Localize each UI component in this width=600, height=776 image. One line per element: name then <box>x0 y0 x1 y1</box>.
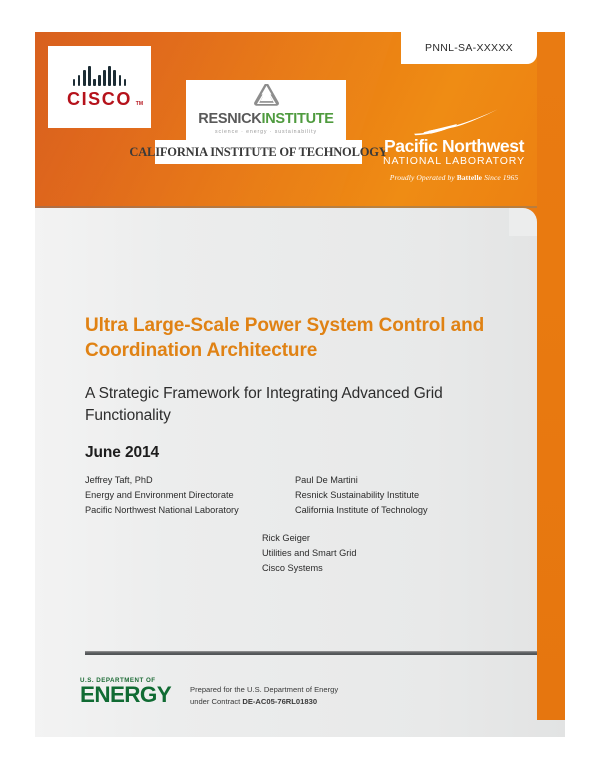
right-orange-strip <box>537 32 565 720</box>
pnnl-tagline: Proudly Operated by Battelle Since 1965 <box>374 173 534 182</box>
doe-energy-text: ENERGY <box>80 685 190 706</box>
caltech-logo: CALIFORNIA INSTITUTE OF TECHNOLOGY <box>155 140 362 164</box>
sheet-corner-notch <box>509 208 537 236</box>
document-title: Ultra Large-Scale Power System Control a… <box>85 313 505 363</box>
contract-line-2: under Contract DE-AC05-76RL01830 <box>190 696 338 708</box>
document-date: June 2014 <box>85 444 505 462</box>
report-number-box: PNNL-SA-XXXXX <box>401 32 537 64</box>
pnnl-tagline-battelle: Battelle <box>457 173 482 182</box>
resnick-triangle-icon <box>253 84 280 111</box>
document-cover-page: PNNL-SA-XXXXX CISCO TM RESNICKINSTITUTE … <box>0 0 600 776</box>
pnnl-logo: Pacific Northwest NATIONAL LABORATORY Pr… <box>374 108 534 182</box>
author-affiliation-1: Utilities and Smart Grid <box>262 546 356 561</box>
author-affiliation-2: California Institute of Technology <box>295 503 505 518</box>
author-block-right: Paul De Martini Resnick Sustainability I… <box>295 473 505 518</box>
authors-row: Jeffrey Taft, PhD Energy and Environment… <box>85 473 505 518</box>
cisco-bars-icon <box>73 66 127 86</box>
resnick-name-part2: INSTITUTE <box>261 111 333 127</box>
footer-divider <box>85 651 537 655</box>
doe-logo: U.S. DEPARTMENT OF ENERGY <box>80 678 188 706</box>
header-band-underline <box>35 206 537 208</box>
author-affiliation-1: Resnick Sustainability Institute <box>295 488 505 503</box>
contract-line-1: Prepared for the U.S. Department of Ener… <box>190 684 338 696</box>
author-affiliation-2: Cisco Systems <box>262 561 356 576</box>
author-affiliation-2: Pacific Northwest National Laboratory <box>85 503 295 518</box>
author-name: Paul De Martini <box>295 473 505 488</box>
resnick-tagline: science · energy · sustainability <box>215 129 317 135</box>
contract-statement: Prepared for the U.S. Department of Ener… <box>190 684 338 708</box>
author-block-center: Rick Geiger Utilities and Smart Grid Cis… <box>262 531 356 576</box>
author-name: Jeffrey Taft, PhD <box>85 473 295 488</box>
author-name: Rick Geiger <box>262 531 356 546</box>
resnick-institute-logo: RESNICKINSTITUTE science · energy · sust… <box>186 80 346 141</box>
pnnl-name-text: Pacific Northwest <box>374 137 534 155</box>
report-number-text: PNNL-SA-XXXXX <box>425 42 513 54</box>
author-affiliation-1: Energy and Environment Directorate <box>85 488 295 503</box>
cisco-logo: CISCO TM <box>48 46 151 128</box>
contract-number: DE-AC05-76RL01830 <box>242 697 317 706</box>
contract-line-2-prefix: under Contract <box>190 697 242 706</box>
title-block: Ultra Large-Scale Power System Control a… <box>85 313 505 462</box>
cisco-wordmark: CISCO TM <box>67 90 132 108</box>
document-subtitle: A Strategic Framework for Integrating Ad… <box>85 383 505 426</box>
caltech-institution-text: CALIFORNIA INSTITUTE OF TECHNOLOGY <box>129 144 387 160</box>
pnnl-swoosh-icon <box>408 108 500 136</box>
cisco-wordmark-text: CISCO <box>67 89 132 109</box>
cisco-trademark-text: TM <box>136 102 143 107</box>
pnnl-tagline-prefix: Proudly Operated by <box>390 173 457 182</box>
resnick-name-part1: RESNICK <box>198 111 261 127</box>
resnick-wordmark: RESNICKINSTITUTE <box>198 112 333 127</box>
pnnl-tagline-suffix: Since 1965 <box>482 173 518 182</box>
pnnl-subtitle-text: NATIONAL LABORATORY <box>374 155 534 168</box>
author-block-left: Jeffrey Taft, PhD Energy and Environment… <box>85 473 295 518</box>
